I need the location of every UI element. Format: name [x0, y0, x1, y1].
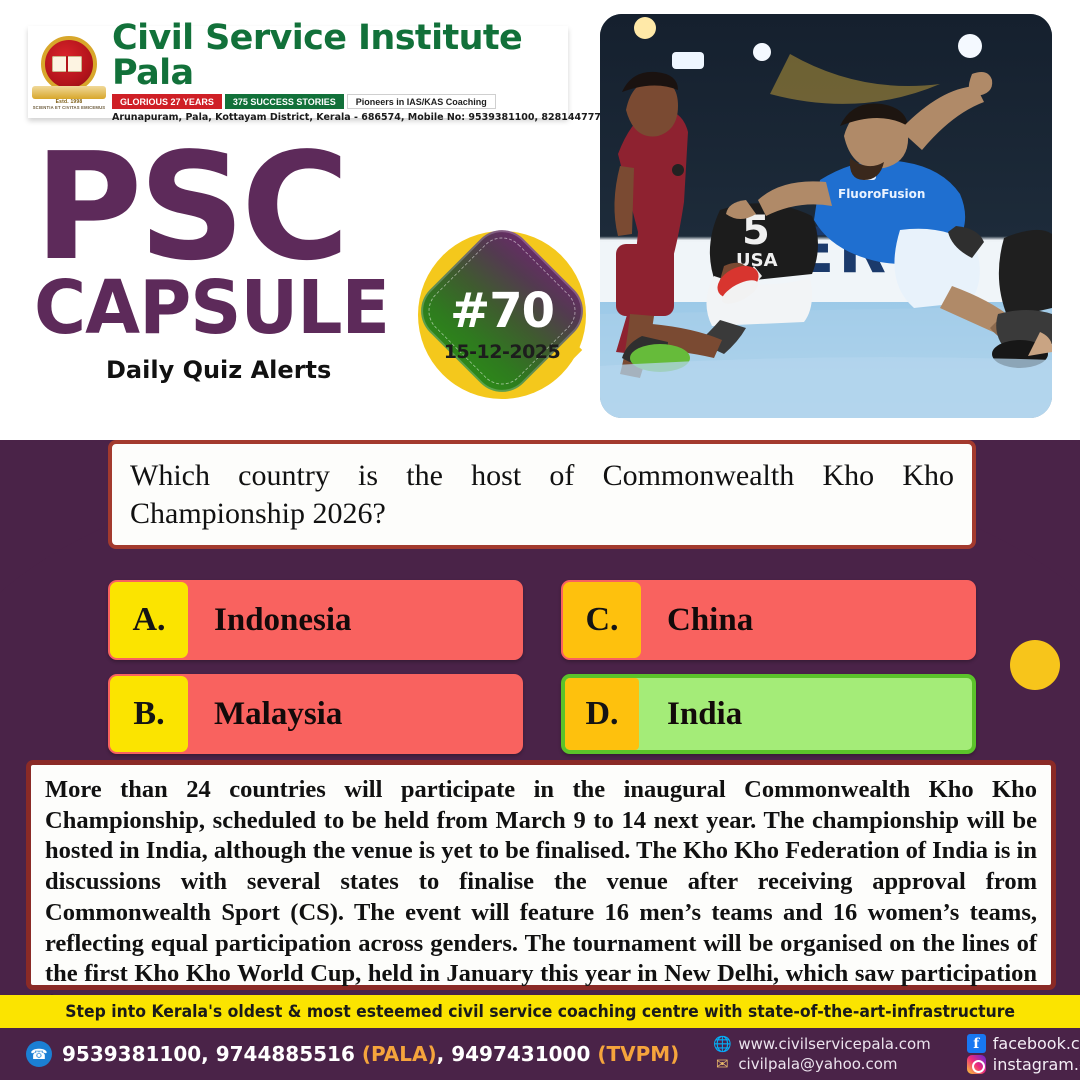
explanation-box: More than 24 countries will participate … [26, 760, 1056, 990]
footer-facebook-row[interactable]: f facebook.com/civilservicepala [967, 1034, 1080, 1053]
option-b-key: B. [110, 676, 188, 752]
badge-glorious-years: GLORIOUS 27 YEARS [112, 94, 222, 109]
footer-facebook: facebook.com/civilservicepala [993, 1034, 1080, 1053]
option-c-label: China [643, 580, 976, 660]
phone-tag-pala: (PALA) [362, 1042, 437, 1066]
instagram-icon [967, 1055, 986, 1074]
option-c-key: C. [563, 582, 641, 658]
institute-crest-logo: Estd. 1998 SCIENTIA ET CIVITAS EMICEMUS [32, 32, 106, 112]
option-b-label: Malaysia [190, 674, 523, 754]
option-a[interactable]: A. Indonesia [108, 580, 523, 660]
globe-icon: 🌐 [713, 1035, 731, 1053]
crest-motto: SCIENTIA ET CIVITAS EMICEMUS [26, 105, 112, 110]
footer-instagram-row[interactable]: instagram.com/civilservicepala [967, 1055, 1080, 1074]
question-box: Which country is the host of Commonwealt… [108, 440, 976, 549]
footer-website-row[interactable]: 🌐 www.civilservicepala.com [713, 1035, 930, 1053]
option-b[interactable]: B. Malaysia [108, 674, 523, 754]
title-line-psc: PSC [34, 145, 404, 269]
option-c[interactable]: C. China [561, 580, 976, 660]
page-title: PSC CAPSULE Daily Quiz Alerts [34, 145, 404, 384]
option-a-key: A. [110, 582, 188, 658]
badge-pioneers: Pioneers in IAS/KAS Coaching [347, 94, 496, 109]
footer-email-row[interactable]: ✉ civilpala@yahoo.com [713, 1055, 930, 1073]
footer-social-group: f facebook.com/civilservicepala instagra… [967, 1034, 1080, 1074]
option-a-label: Indonesia [190, 580, 523, 660]
ribbon-shape [32, 86, 106, 99]
badge-date: 15-12-2025 [418, 341, 586, 363]
phone-icon: ☎ [26, 1041, 52, 1067]
option-d-key: D. [565, 678, 639, 750]
footer-phone-numbers: 9539381100, 9744885516 (PALA), 949743100… [62, 1042, 679, 1066]
title-line-capsule: CAPSULE [34, 273, 389, 343]
photo-illustration: AERO 5 USA Fluor [600, 14, 1052, 418]
footer-web-group: 🌐 www.civilservicepala.com ✉ civilpala@y… [713, 1035, 930, 1073]
explanation-text: More than 24 countries will participate … [45, 775, 1037, 1021]
facebook-icon: f [967, 1034, 986, 1053]
footer-tagline-strip: Step into Kerala's oldest & most esteeme… [0, 995, 1080, 1028]
issue-badge: #70 15-12-2025 [418, 231, 586, 399]
phone-part-1: 9539381100, 9744885516 [62, 1042, 362, 1066]
footer-contact-bar: ☎ 9539381100, 9744885516 (PALA), 9497431… [0, 1028, 1080, 1080]
title-subtitle: Daily Quiz Alerts [106, 356, 404, 384]
question-text: Which country is the host of Commonwealt… [130, 457, 954, 533]
footer-phone-group: ☎ 9539381100, 9744885516 (PALA), 9497431… [0, 1041, 679, 1067]
option-d[interactable]: D. India [561, 674, 976, 754]
badge-issue-number: #70 [418, 283, 586, 339]
badge-success-stories: 375 SUCCESS STORIES [225, 94, 344, 109]
footer-website: www.civilservicepala.com [738, 1035, 930, 1053]
footer-email: civilpala@yahoo.com [738, 1055, 897, 1073]
institute-name: Civil Service Institute Pala [112, 21, 608, 91]
options-grid: A. Indonesia C. China B. Malaysia D. Ind… [108, 580, 976, 754]
letterhead-text-block: Civil Service Institute Pala GLORIOUS 27… [106, 21, 612, 123]
open-book-icon [52, 56, 82, 72]
svg-text:FluoroFusion: FluoroFusion [838, 187, 925, 201]
phone-tag-tvpm: (TVPM) [597, 1042, 679, 1066]
footer-instagram: instagram.com/civilservicepala [993, 1055, 1080, 1074]
option-d-label: India [639, 678, 972, 750]
phone-part-2: , 9497431000 [437, 1042, 598, 1066]
kho-kho-match-photo: AERO 5 USA Fluor [600, 14, 1052, 418]
mail-icon: ✉ [713, 1055, 731, 1073]
decorative-yellow-dot [1010, 640, 1060, 690]
footer-tagline: Step into Kerala's oldest & most esteeme… [65, 1002, 1015, 1022]
letterhead-badges: GLORIOUS 27 YEARS 375 SUCCESS STORIES Pi… [112, 94, 608, 109]
institute-letterhead: Estd. 1998 SCIENTIA ET CIVITAS EMICEMUS … [28, 26, 568, 118]
